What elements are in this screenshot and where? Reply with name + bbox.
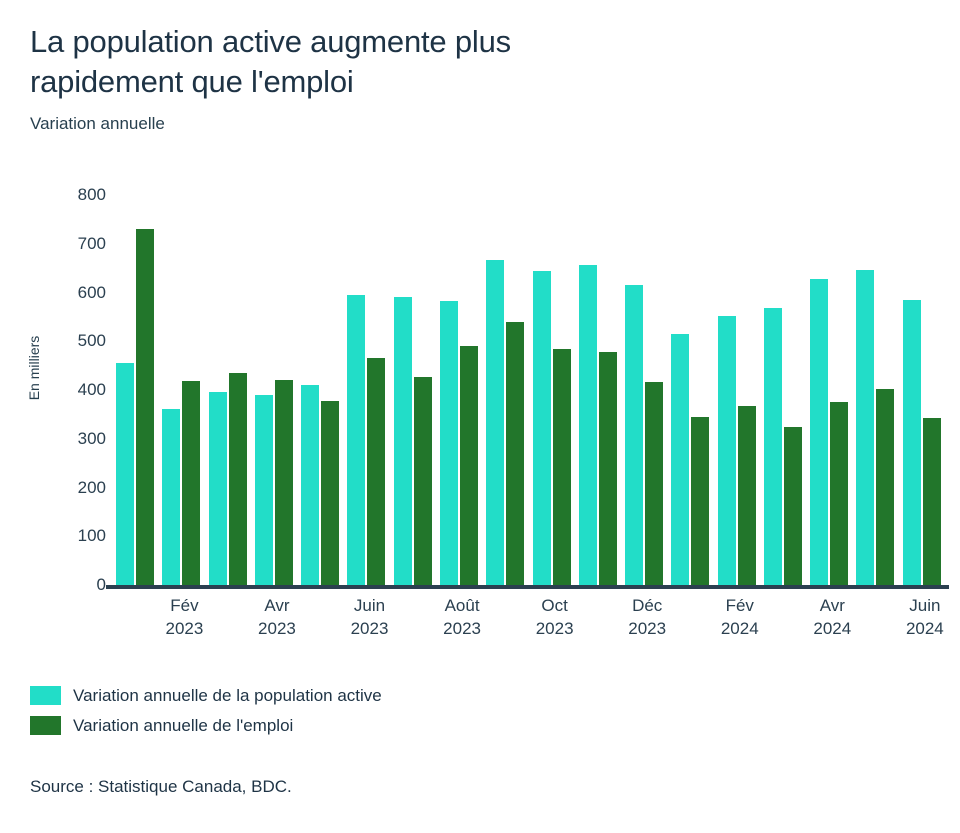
bar-labour-force <box>440 301 458 585</box>
bar-labour-force <box>162 409 180 585</box>
bar-labour-force <box>671 334 689 585</box>
y-axis-title: En milliers <box>26 313 42 423</box>
x-tick-year: 2024 <box>880 618 960 640</box>
y-tick-label: 400 <box>52 381 106 398</box>
x-tick-label: Fév2024 <box>695 594 785 640</box>
bar-employment <box>460 346 478 585</box>
x-tick-year: 2023 <box>602 618 692 640</box>
x-tick-month: Fév <box>139 594 229 618</box>
y-tick-label: 700 <box>52 235 106 252</box>
bar-employment <box>876 389 894 585</box>
bar-labour-force <box>209 392 227 585</box>
bar-group <box>162 195 208 585</box>
y-tick-label: 0 <box>52 576 106 593</box>
legend-swatch <box>30 716 61 735</box>
bar-employment <box>645 382 663 585</box>
bar-employment <box>923 418 941 585</box>
bar-employment <box>136 229 154 585</box>
bar-group <box>625 195 671 585</box>
bar-labour-force <box>255 395 273 585</box>
x-tick-year: 2024 <box>787 618 877 640</box>
x-axis-ticks: Fév2023Avr2023Juin2023Août2023Oct2023Déc… <box>113 594 946 654</box>
bar-labour-force <box>810 279 828 585</box>
bar-employment <box>367 358 385 585</box>
legend-labour-force[interactable]: Variation annuelle de la population acti… <box>30 682 382 708</box>
x-tick-label: Juin2023 <box>325 594 415 640</box>
legend: Variation annuelle de la population acti… <box>30 682 382 742</box>
bar-group <box>347 195 393 585</box>
bar-group <box>533 195 579 585</box>
y-tick-label: 200 <box>52 479 106 496</box>
x-tick-label: Déc2023 <box>602 594 692 640</box>
bar-group <box>486 195 532 585</box>
bar-labour-force <box>394 297 412 585</box>
bar-series-container <box>113 195 946 585</box>
x-tick-year: 2023 <box>232 618 322 640</box>
bar-group <box>903 195 949 585</box>
bar-labour-force <box>533 271 551 585</box>
x-tick-year: 2023 <box>325 618 415 640</box>
x-tick-month: Juin <box>880 594 960 618</box>
bar-employment <box>229 373 247 585</box>
bar-group <box>255 195 301 585</box>
bar-labour-force <box>764 308 782 585</box>
y-tick-label: 300 <box>52 430 106 447</box>
bar-group <box>579 195 625 585</box>
bar-group <box>764 195 810 585</box>
bar-employment <box>506 322 524 585</box>
x-tick-year: 2024 <box>695 618 785 640</box>
bar-group <box>718 195 764 585</box>
legend-swatch <box>30 686 61 705</box>
legend-label: Variation annuelle de l'emploi <box>73 716 293 735</box>
bar-employment <box>553 349 571 585</box>
bar-labour-force <box>347 295 365 585</box>
x-tick-month: Juin <box>325 594 415 618</box>
bar-employment <box>275 380 293 585</box>
legend-employment[interactable]: Variation annuelle de l'emploi <box>30 712 382 738</box>
bar-group <box>810 195 856 585</box>
x-tick-label: Avr2023 <box>232 594 322 640</box>
y-tick-label: 100 <box>52 527 106 544</box>
bar-group <box>116 195 162 585</box>
x-tick-label: Fév2023 <box>139 594 229 640</box>
bar-employment <box>599 352 617 586</box>
bar-employment <box>830 402 848 585</box>
bar-group <box>856 195 902 585</box>
x-tick-label: Juin2024 <box>880 594 960 640</box>
bar-labour-force <box>116 363 134 585</box>
x-tick-label: Oct2023 <box>510 594 600 640</box>
bar-labour-force <box>718 316 736 585</box>
chart-page: La population active augmente plus rapid… <box>0 0 960 833</box>
bar-group <box>394 195 440 585</box>
bar-employment <box>321 401 339 585</box>
bar-group <box>209 195 255 585</box>
legend-label: Variation annuelle de la population acti… <box>73 686 382 705</box>
bar-labour-force <box>486 260 504 585</box>
bar-employment <box>414 377 432 585</box>
bar-employment <box>182 381 200 585</box>
x-tick-month: Oct <box>510 594 600 618</box>
x-tick-year: 2023 <box>417 618 507 640</box>
x-tick-month: Fév <box>695 594 785 618</box>
x-axis-line <box>106 585 949 589</box>
x-tick-month: Avr <box>787 594 877 618</box>
y-tick-label: 800 <box>52 186 106 203</box>
bar-labour-force <box>625 285 643 585</box>
x-tick-label: Août2023 <box>417 594 507 640</box>
bar-employment <box>691 417 709 585</box>
y-tick-label: 500 <box>52 332 106 349</box>
bar-group <box>440 195 486 585</box>
bar-employment <box>738 406 756 585</box>
bar-labour-force <box>903 300 921 585</box>
x-tick-label: Avr2024 <box>787 594 877 640</box>
source-note: Source : Statistique Canada, BDC. <box>30 777 292 797</box>
x-tick-year: 2023 <box>510 618 600 640</box>
bar-employment <box>784 427 802 585</box>
bar-labour-force <box>856 270 874 585</box>
x-tick-month: Déc <box>602 594 692 618</box>
bar-group <box>301 195 347 585</box>
bar-labour-force <box>301 385 319 585</box>
bar-labour-force <box>579 265 597 585</box>
x-tick-year: 2023 <box>139 618 229 640</box>
x-tick-month: Avr <box>232 594 322 618</box>
bar-group <box>671 195 717 585</box>
y-tick-label: 600 <box>52 284 106 301</box>
x-tick-month: Août <box>417 594 507 618</box>
